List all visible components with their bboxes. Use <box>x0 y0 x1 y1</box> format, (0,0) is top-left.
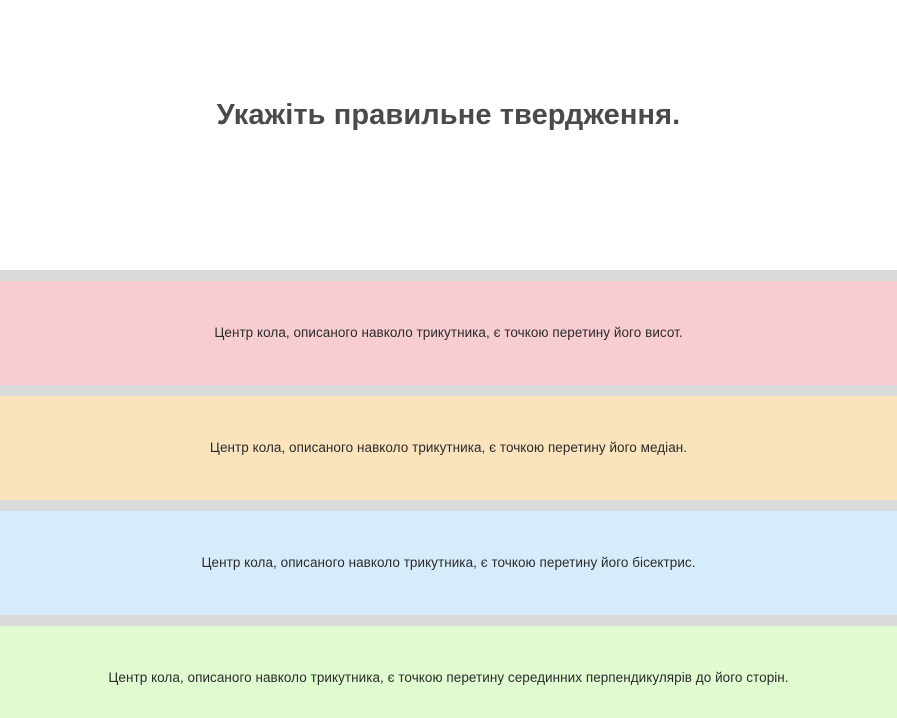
answer-option-label: Центр кола, описаного навколо трикутника… <box>210 438 687 458</box>
quiz-page: Укажіть правильне твердження. Центр кола… <box>0 0 897 718</box>
answer-option-a[interactable]: Центр кола, описаного навколо трикутника… <box>0 281 897 385</box>
answer-option-c[interactable]: Центр кола, описаного навколо трикутника… <box>0 511 897 615</box>
answer-option-b[interactable]: Центр кола, описаного навколо трикутника… <box>0 396 897 500</box>
option-separator <box>0 615 897 626</box>
answer-option-label: Центр кола, описаного навколо трикутника… <box>201 553 695 573</box>
option-separator <box>0 270 897 281</box>
option-separator <box>0 500 897 511</box>
answer-options-list: Центр кола, описаного навколо трикутника… <box>0 270 897 718</box>
page-title: Укажіть правильне твердження. <box>0 96 897 134</box>
answer-option-label: Центр кола, описаного навколо трикутника… <box>108 668 788 688</box>
answer-option-label: Центр кола, описаного навколо трикутника… <box>214 323 682 343</box>
question-area: Укажіть правильне твердження. <box>0 0 897 270</box>
answer-option-d[interactable]: Центр кола, описаного навколо трикутника… <box>0 626 897 718</box>
option-separator <box>0 385 897 396</box>
